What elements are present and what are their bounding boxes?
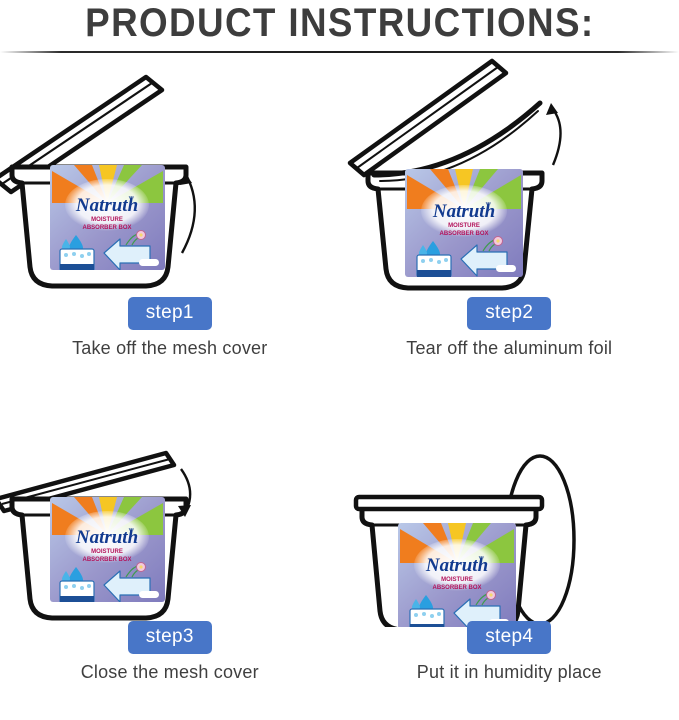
- product-label: Natruth ™ MOISTURE ABSORBER BOX: [50, 165, 165, 271]
- step-2-illustration: Natruth ™ MOISTURE ABSORBER BOX: [340, 53, 679, 303]
- arrow-open-icon: [180, 173, 195, 253]
- page-title: PRODUCT INSTRUCTIONS:: [85, 0, 594, 45]
- step-3-caption-wrap: Close the mesh cover: [0, 662, 340, 683]
- svg-text:MOISTURE: MOISTURE: [448, 223, 480, 229]
- step-1-badge-wrap: step1: [0, 297, 340, 330]
- svg-text:ABSORBER BOX: ABSORBER BOX: [432, 585, 481, 591]
- step-4-badge: step4: [467, 621, 551, 654]
- step-card-2: Natruth ™ MOISTURE ABSORBER BOX: [340, 53, 679, 383]
- header: PRODUCT INSTRUCTIONS:: [0, 0, 679, 47]
- svg-text:MOISTURE: MOISTURE: [91, 217, 123, 223]
- svg-text:™: ™: [128, 527, 134, 534]
- instruction-infographic: PRODUCT INSTRUCTIONS:: [0, 0, 679, 720]
- product-label: Natruth ™ MOISTURE ABSORBER BOX: [405, 169, 523, 277]
- step-card-3: Natruth ™ MOISTURE ABSORBER BOX: [0, 383, 340, 713]
- step-4-illustration: Natruth ™ MOISTURE ABSORBER BOX: [340, 377, 679, 627]
- svg-text:™: ™: [128, 195, 134, 202]
- svg-text:ABSORBER BOX: ABSORBER BOX: [439, 231, 488, 237]
- step-card-4: Natruth ™ MOISTURE ABSORBER BOX: [340, 383, 679, 713]
- step-3-badge: step3: [128, 621, 212, 654]
- arrow-peel-icon: [546, 103, 561, 165]
- step-2-badge-wrap: step2: [340, 297, 679, 330]
- step-4-caption: Put it in humidity place: [417, 662, 602, 682]
- step-3-caption: Close the mesh cover: [81, 662, 259, 682]
- svg-text:™: ™: [485, 201, 491, 208]
- product-label: Natruth ™ MOISTURE ABSORBER BOX: [50, 497, 165, 603]
- step-4-caption-wrap: Put it in humidity place: [340, 662, 679, 683]
- mesh-lid-icon: [350, 61, 506, 175]
- step-3-illustration: Natruth ™ MOISTURE ABSORBER BOX: [0, 377, 340, 627]
- step-card-1: Natruth ™ MOISTURE ABSORBER BOX: [0, 53, 340, 383]
- svg-text:MOISTURE: MOISTURE: [441, 577, 473, 583]
- step-1-illustration: Natruth ™ MOISTURE ABSORBER BOX: [0, 53, 340, 303]
- svg-text:ABSORBER BOX: ABSORBER BOX: [82, 557, 131, 563]
- svg-text:MOISTURE: MOISTURE: [91, 549, 123, 555]
- step-2-caption-wrap: Tear off the aluminum foil: [340, 338, 679, 359]
- steps-grid: Natruth ™ MOISTURE ABSORBER BOX: [0, 53, 679, 713]
- svg-text:ABSORBER BOX: ABSORBER BOX: [82, 225, 131, 231]
- step-3-badge-wrap: step3: [0, 621, 340, 654]
- svg-text:™: ™: [478, 555, 484, 562]
- product-label: Natruth ™ MOISTURE ABSORBER BOX: [398, 523, 516, 627]
- step-2-badge: step2: [467, 297, 551, 330]
- step-4-badge-wrap: step4: [340, 621, 679, 654]
- step-1-caption: Take off the mesh cover: [72, 338, 267, 358]
- step-1-caption-wrap: Take off the mesh cover: [0, 338, 340, 359]
- step-2-caption: Tear off the aluminum foil: [406, 338, 612, 358]
- step-1-badge: step1: [128, 297, 212, 330]
